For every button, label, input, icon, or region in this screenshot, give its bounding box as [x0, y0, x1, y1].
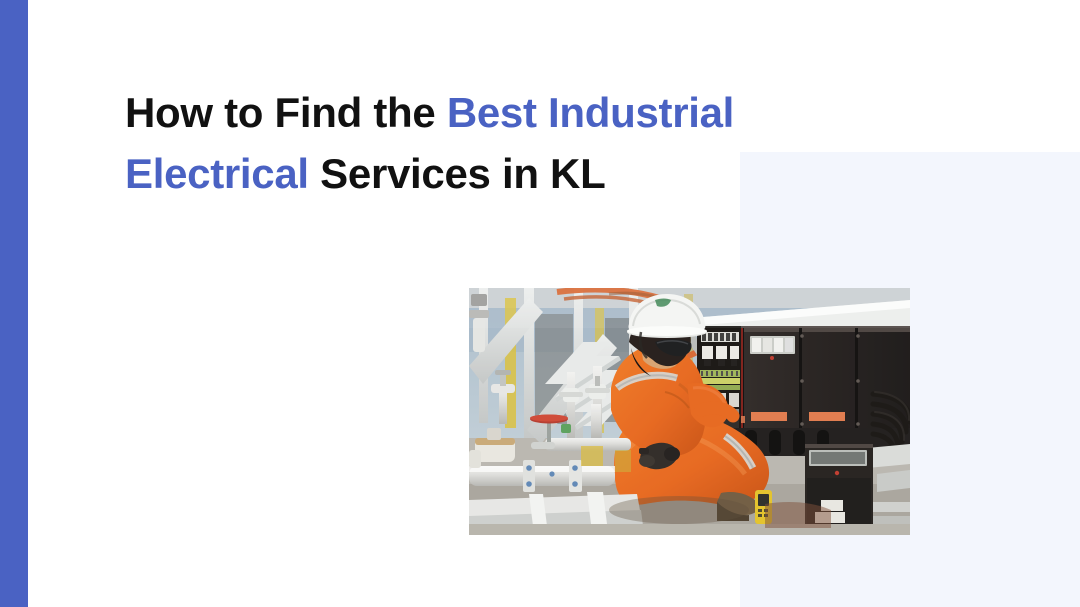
headline-part-3: Services in KL [309, 150, 606, 197]
left-accent-bar [0, 0, 28, 607]
slide-canvas: How to Find the Best Industrial Electric… [0, 0, 1080, 607]
page-title: How to Find the Best Industrial Electric… [125, 82, 825, 204]
industrial-electrician-photo [469, 288, 910, 535]
headline-part-1: How to Find the [125, 89, 447, 136]
photo-illustration [469, 288, 910, 535]
